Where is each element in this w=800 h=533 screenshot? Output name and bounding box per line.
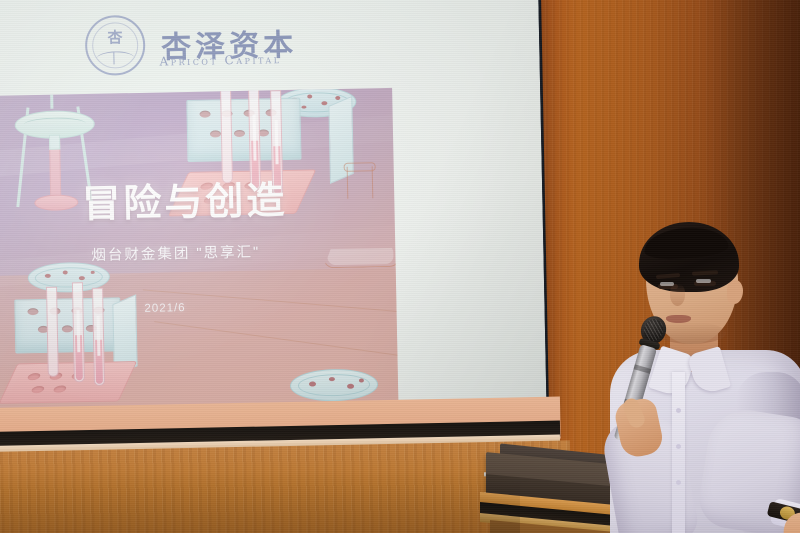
- seal-glyph: 杏: [107, 26, 122, 47]
- brand-name-en: Apricot Capital: [159, 52, 281, 68]
- artwork-table-surface: [0, 268, 398, 414]
- test-tube-rack-illustration: [186, 97, 338, 226]
- screenshot-root: 杏 杏泽资本 Apricot Capital: [0, 0, 800, 533]
- slide-artwork: 冒险与创造 烟台财金集团 "思享汇" 2021/6: [0, 88, 398, 414]
- mouth: [666, 315, 691, 323]
- petri-dish-illustration: [290, 368, 379, 402]
- petri-dish-illustration: [276, 88, 357, 118]
- petri-dish-illustration: [28, 262, 111, 294]
- projection-screen: 杏 杏泽资本 Apricot Capital: [0, 0, 547, 435]
- slide-subtitle: 烟台财金集团 "思享汇": [91, 241, 260, 265]
- speaker: [596, 222, 800, 533]
- shirt-placket: [672, 372, 685, 533]
- lower-shadow: [0, 470, 520, 533]
- bunsen-burner-illustration: [10, 90, 113, 222]
- nose: [670, 284, 685, 306]
- ear: [727, 280, 743, 304]
- seal-book-icon: [96, 51, 134, 66]
- apricot-seal-icon: 杏: [85, 15, 146, 76]
- slide-date: 2021/6: [144, 302, 185, 315]
- test-tube-rack-illustration: [14, 296, 166, 413]
- slide-title: 冒险与创造: [82, 182, 288, 224]
